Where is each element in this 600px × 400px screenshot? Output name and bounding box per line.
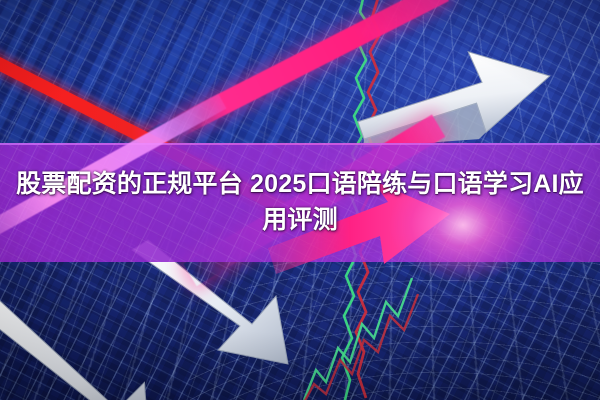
banner-image: 股票配资的正规平台 2025口语陪练与口语学习AI应用评测 [0,0,600,400]
vignette-overlay [0,0,600,400]
